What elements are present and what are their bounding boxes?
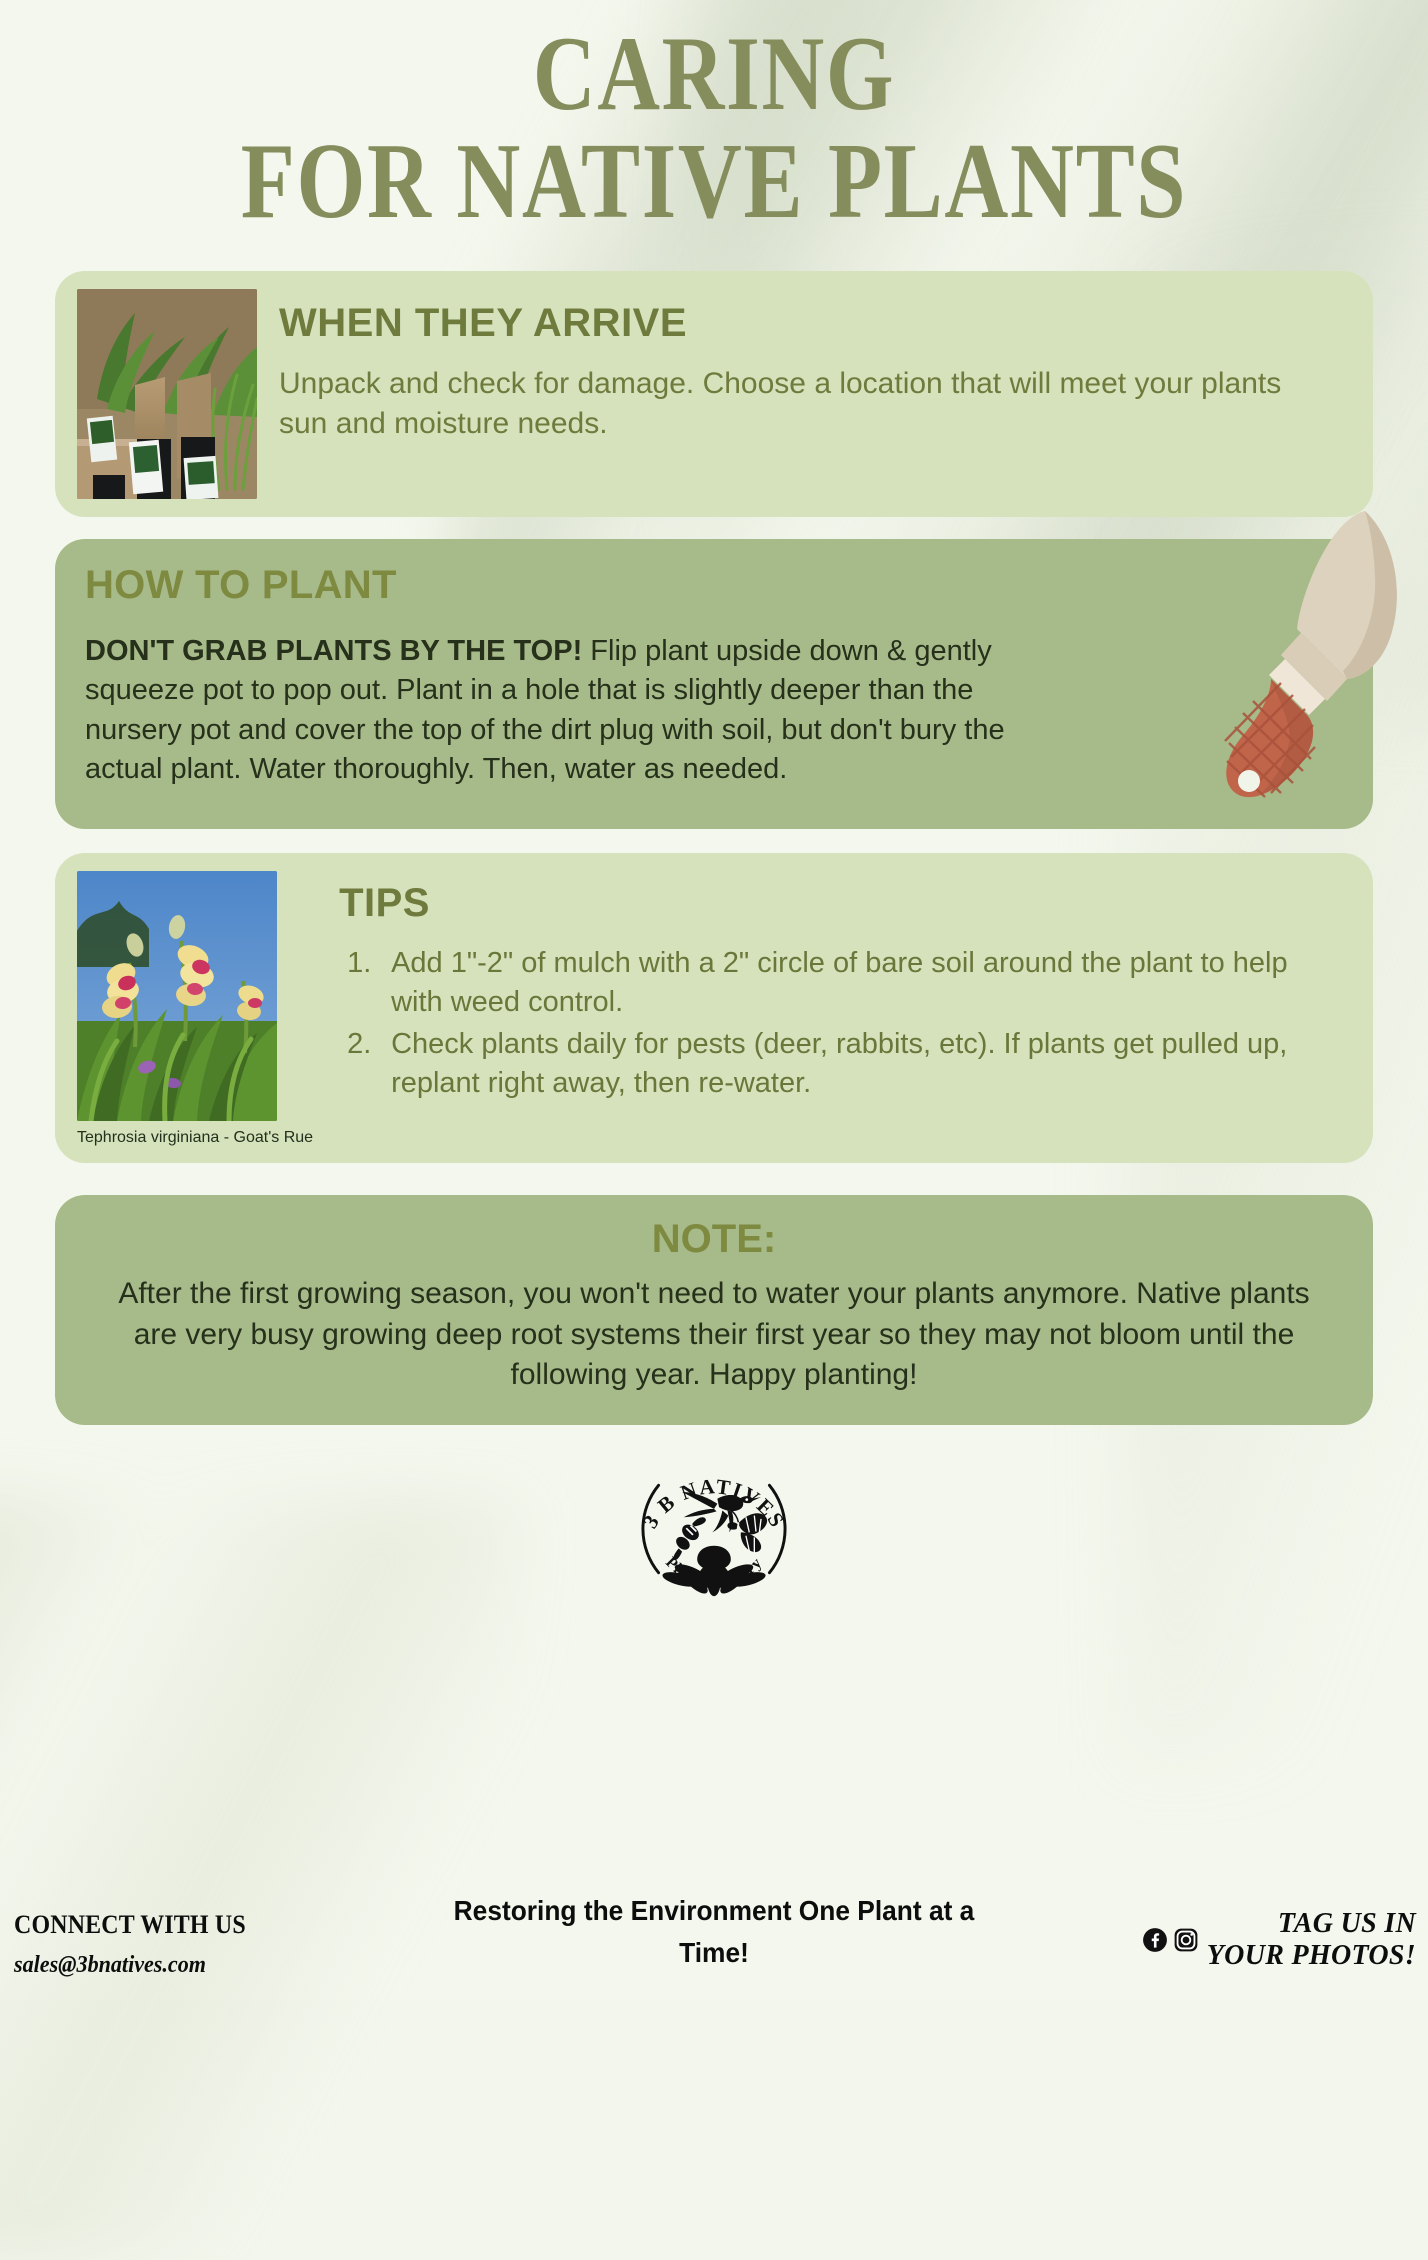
text-how-to-plant: DON'T GRAB PLANTS BY THE TOP! Flip plant… [85, 632, 1073, 789]
text-how-to-plant-warning: DON'T GRAB PLANTS BY THE TOP! [85, 635, 582, 667]
text-when-they-arrive: Unpack and check for damage. Choose a lo… [279, 364, 1323, 443]
card-note: NOTE: After the first growing season, yo… [55, 1195, 1373, 1425]
footer: CONNECT WITH US sales@3bnatives.com Rest… [0, 1876, 1428, 1986]
heading-note: NOTE: [101, 1217, 1327, 1262]
tips-list: Add 1"-2" of mulch with a 2" circle of b… [339, 944, 1317, 1103]
goats-rue-illustration [77, 871, 277, 1121]
brand-logo-block: 3 B NATIVES Plant Nursery [0, 1445, 1428, 1613]
heading-tips: TIPS [339, 881, 1317, 926]
footer-tag-text: TAG US IN YOUR PHOTOS! [1207, 1908, 1416, 1972]
text-note: After the first growing season, you won'… [101, 1274, 1327, 1396]
tips-photo-block: Tephrosia virginiana - Goat's Rue [77, 871, 313, 1147]
instagram-icon[interactable] [1173, 1927, 1199, 1953]
footer-contact-block: CONNECT WITH US sales@3bnatives.com [10, 1876, 370, 1979]
heading-how-to-plant: HOW TO PLANT [85, 563, 1073, 608]
card-tips-body: TIPS Add 1"-2" of mulch with a 2" circle… [339, 871, 1353, 1105]
footer-tagline: Restoring the Environment One Plant at a… [451, 1890, 977, 1974]
title-line-1: CARING [129, 24, 1300, 125]
card-tips: Tephrosia virginiana - Goat's Rue TIPS A… [55, 853, 1373, 1163]
title-line-2: FOR NATIVE PLANTS [129, 131, 1300, 234]
footer-social-block: TAG US IN YOUR PHOTOS! [1058, 1876, 1418, 1972]
garden-trowel-icon [1215, 503, 1425, 833]
logo-3b-natives: 3 B NATIVES Plant Nursery [630, 1445, 798, 1613]
photo-goats-rue [77, 871, 277, 1121]
card-when-they-arrive: WHEN THEY ARRIVE Unpack and check for da… [55, 271, 1373, 517]
list-item: Check plants daily for pests (deer, rabb… [339, 1025, 1317, 1103]
footer-tag-line2: YOUR PHOTOS! [1207, 1940, 1416, 1971]
infographic-page: CARING FOR NATIVE PLANTS [0, 0, 1428, 2000]
list-item: Add 1"-2" of mulch with a 2" circle of b… [339, 944, 1317, 1022]
social-icons [1142, 1927, 1199, 1953]
footer-tagline-block: Restoring the Environment One Plant at a… [370, 1876, 1058, 1974]
card-how-to-plant: HOW TO PLANT DON'T GRAB PLANTS BY THE TO… [55, 539, 1373, 829]
footer-social-row: TAG US IN YOUR PHOTOS! [1058, 1908, 1416, 1972]
footer-connect-label: CONNECT WITH US [14, 1910, 342, 1940]
footer-email[interactable]: sales@3bnatives.com [14, 1952, 342, 1979]
potted-plants-illustration [77, 289, 257, 499]
card-when-they-arrive-body: WHEN THEY ARRIVE Unpack and check for da… [279, 289, 1353, 443]
photo-caption-goats-rue: Tephrosia virginiana - Goat's Rue [77, 1129, 313, 1147]
facebook-icon[interactable] [1142, 1927, 1168, 1953]
page-title: CARING FOR NATIVE PLANTS [0, 0, 1428, 233]
footer-tag-line1: TAG US IN [1278, 1908, 1416, 1939]
photo-potted-plants [77, 289, 257, 499]
butterfly-icon [727, 1511, 767, 1553]
heading-when-they-arrive: WHEN THEY ARRIVE [279, 301, 1323, 346]
